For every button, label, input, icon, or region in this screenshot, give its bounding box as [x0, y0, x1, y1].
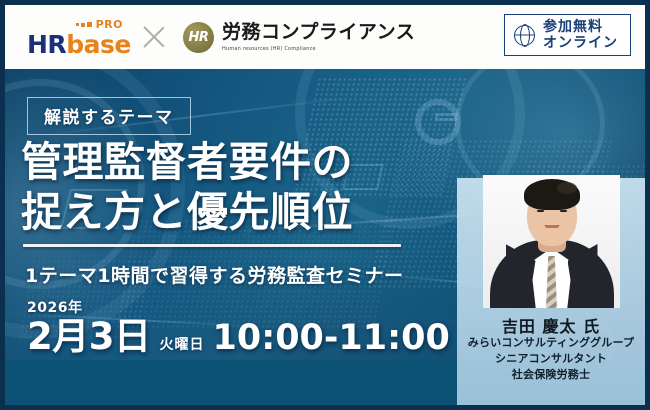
- date-block: 2026年 2月3日 火曜日 10:00-11:00: [27, 297, 450, 357]
- time-label: 10:00-11:00: [213, 320, 450, 357]
- seminar-subtitle: 1テーマ1時間で習得する労務監査セミナー: [25, 261, 403, 288]
- banner-header: PRO HRbase HR 労務コンプライアンス Human resources…: [5, 5, 645, 69]
- compliance-title: 労務コンプライアンス: [222, 22, 415, 43]
- hrbase-hr-text: HR: [27, 30, 66, 59]
- speaker-org: みらいコンサルティンググループ: [457, 335, 645, 351]
- title-divider: [23, 244, 401, 247]
- free-badge-line1: 参加無料: [543, 19, 618, 35]
- hrbase-base-text: base: [66, 30, 131, 59]
- speaker-photo: [483, 175, 620, 308]
- theme-tag: 解説するテーマ: [27, 97, 191, 135]
- speaker-details: みらいコンサルティンググループ シニアコンサルタント 社会保険労務士: [457, 335, 645, 383]
- bg-circuit-shape-2: [415, 99, 461, 145]
- title-line-2: 捉え方と優先順位: [21, 187, 353, 237]
- banner-background: 解説するテーマ 管理監督者要件の 捉え方と優先順位 1テーマ1時間で習得する労務…: [5, 69, 645, 405]
- bg-circuit-shape-3: [435, 113, 457, 121]
- date-time-row: 2月3日 火曜日 10:00-11:00: [27, 318, 450, 357]
- hr-circle-badge-icon: HR: [183, 22, 214, 53]
- theme-tag-label: 解説するテーマ: [44, 108, 174, 128]
- speaker-role: シニアコンサルタント: [457, 351, 645, 367]
- date-label: 2月3日: [27, 318, 151, 357]
- weekday-label: 火曜日: [160, 334, 205, 354]
- compliance-text-group: 労務コンプライアンス Human resources (HR) Complian…: [222, 22, 415, 52]
- title-line-1: 管理監督者要件の: [21, 137, 353, 187]
- globe-icon: [514, 25, 535, 46]
- hrbase-pro-logo: PRO HRbase: [27, 17, 123, 57]
- free-badge-text: 参加無料 オンライン: [543, 19, 618, 51]
- year-label: 2026年: [27, 297, 450, 317]
- pro-dot-large: [87, 22, 92, 27]
- free-online-badge: 参加無料 オンライン: [504, 14, 631, 56]
- cross-icon: [139, 23, 167, 51]
- hrbase-wordmark: HRbase: [27, 32, 131, 57]
- seminar-banner: PRO HRbase HR 労務コンプライアンス Human resources…: [0, 0, 650, 410]
- speaker-name: 吉田 慶太 氏: [457, 313, 645, 337]
- free-badge-line2: オンライン: [543, 35, 618, 51]
- seminar-title: 管理監督者要件の 捉え方と優先順位: [21, 137, 353, 237]
- compliance-subtitle: Human resources (HR) Compliance: [222, 46, 415, 52]
- pro-dot-medium: [81, 23, 85, 27]
- pro-dot-small: [76, 23, 79, 26]
- speaker-qualification: 社会保険労務士: [457, 367, 645, 383]
- compliance-logo: HR 労務コンプライアンス Human resources (HR) Compl…: [183, 22, 415, 53]
